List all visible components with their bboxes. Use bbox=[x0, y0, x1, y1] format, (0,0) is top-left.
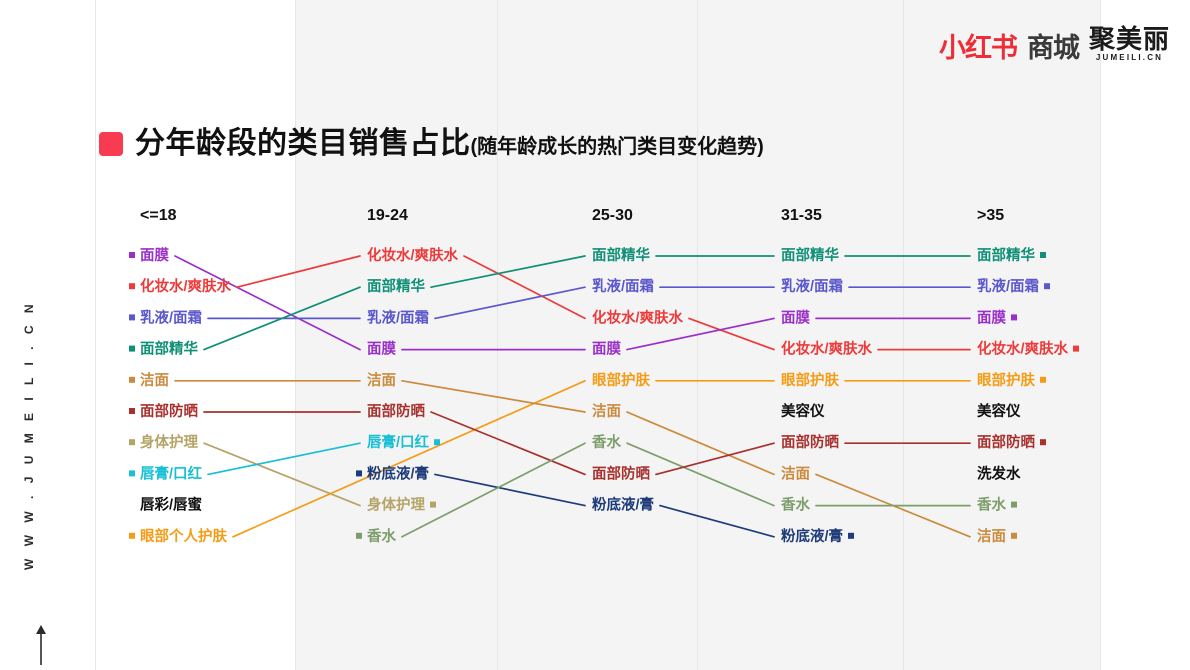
endpoint-marker-icon bbox=[1040, 377, 1046, 383]
category-label[interactable]: 面膜 bbox=[592, 340, 621, 358]
endpoint-marker-icon bbox=[1073, 346, 1079, 352]
link-line bbox=[656, 443, 774, 474]
age-category-slope-chart: 面膜化妆水/爽肤水乳液/面霜面部精华洁面面部防晒身体护理唇膏/口红唇彩/唇蜜眼部… bbox=[0, 0, 1190, 670]
category-label[interactable]: 面部精华 bbox=[367, 277, 425, 295]
endpoint-marker-icon bbox=[430, 502, 436, 508]
category-label[interactable]: 面膜 bbox=[977, 308, 1006, 326]
endpoint-marker-icon bbox=[1040, 439, 1046, 445]
endpoint-marker-icon bbox=[129, 439, 135, 445]
category-label[interactable]: 洁面 bbox=[781, 464, 810, 482]
endpoint-marker-icon bbox=[356, 533, 362, 539]
endpoint-marker-icon bbox=[434, 439, 440, 445]
link-line bbox=[402, 381, 585, 412]
endpoint-marker-icon bbox=[129, 533, 135, 539]
category-label[interactable]: 洁面 bbox=[592, 402, 621, 420]
link-line bbox=[660, 506, 774, 537]
endpoint-marker-icon bbox=[129, 252, 135, 258]
category-label[interactable]: 面部精华 bbox=[977, 246, 1035, 264]
category-label[interactable]: 香水 bbox=[977, 496, 1006, 514]
category-label[interactable]: 身体护理 bbox=[140, 433, 198, 451]
category-label[interactable]: 面部精华 bbox=[592, 246, 650, 264]
category-label[interactable]: 乳液/面霜 bbox=[977, 277, 1039, 295]
category-label[interactable]: 眼部护肤 bbox=[781, 371, 839, 389]
link-line bbox=[175, 256, 360, 350]
category-label[interactable]: 洁面 bbox=[977, 527, 1006, 545]
column-header-4: >35 bbox=[977, 207, 1004, 224]
endpoint-marker-icon bbox=[129, 470, 135, 476]
category-label[interactable]: 面膜 bbox=[140, 246, 169, 264]
category-label[interactable]: 乳液/面霜 bbox=[367, 308, 429, 326]
column-header-1: 19-24 bbox=[367, 207, 408, 224]
link-line bbox=[237, 256, 360, 287]
endpoint-marker-icon bbox=[356, 470, 362, 476]
category-label[interactable]: 洗发水 bbox=[977, 464, 1021, 482]
category-label[interactable]: 香水 bbox=[781, 496, 810, 514]
category-label[interactable]: 化妆水/爽肤水 bbox=[367, 246, 459, 264]
endpoint-marker-icon bbox=[1044, 283, 1050, 289]
column-header-3: 31-35 bbox=[781, 207, 822, 224]
link-line bbox=[204, 443, 360, 505]
link-line bbox=[431, 412, 585, 474]
category-label[interactable]: 乳液/面霜 bbox=[140, 308, 202, 326]
category-label[interactable]: 洁面 bbox=[367, 371, 396, 389]
category-nodes-layer: 面膜化妆水/爽肤水乳液/面霜面部精华洁面面部防晒身体护理唇膏/口红唇彩/唇蜜眼部… bbox=[129, 246, 1079, 545]
endpoint-marker-icon bbox=[129, 283, 135, 289]
category-label[interactable]: 香水 bbox=[367, 527, 396, 545]
category-label[interactable]: 美容仪 bbox=[977, 402, 1021, 420]
category-label[interactable]: 化妆水/爽肤水 bbox=[781, 340, 873, 358]
category-label[interactable]: 粉底液/膏 bbox=[367, 464, 429, 482]
endpoint-marker-icon bbox=[1011, 533, 1017, 539]
category-label[interactable]: 面部防晒 bbox=[781, 433, 839, 451]
category-label[interactable]: 身体护理 bbox=[367, 496, 425, 514]
category-label[interactable]: 面部精华 bbox=[781, 246, 839, 264]
link-line bbox=[435, 474, 585, 505]
endpoint-marker-icon bbox=[1011, 314, 1017, 320]
category-label[interactable]: 唇彩/唇蜜 bbox=[140, 496, 203, 514]
endpoint-marker-icon bbox=[129, 314, 135, 320]
link-lines-layer bbox=[175, 256, 970, 537]
link-line bbox=[627, 412, 774, 474]
category-label[interactable]: 面部防晒 bbox=[140, 402, 198, 420]
endpoint-marker-icon bbox=[1040, 252, 1046, 258]
category-label[interactable]: 美容仪 bbox=[781, 402, 825, 420]
category-label[interactable]: 面部防晒 bbox=[367, 402, 425, 420]
category-label[interactable]: 乳液/面霜 bbox=[592, 277, 654, 295]
category-label[interactable]: 香水 bbox=[592, 433, 621, 451]
category-label[interactable]: 面部精华 bbox=[140, 340, 198, 358]
link-line bbox=[208, 443, 360, 474]
endpoint-marker-icon bbox=[129, 346, 135, 352]
column-header-2: 25-30 bbox=[592, 207, 633, 224]
category-label[interactable]: 面部防晒 bbox=[977, 433, 1035, 451]
category-label[interactable]: 眼部护肤 bbox=[592, 371, 650, 389]
category-label[interactable]: 眼部护肤 bbox=[977, 371, 1035, 389]
endpoint-marker-icon bbox=[129, 408, 135, 414]
slide-canvas: W W W . J U M E I L I . C N 小红书 商城 聚美丽 J… bbox=[0, 0, 1190, 670]
category-label[interactable]: 化妆水/爽肤水 bbox=[140, 277, 232, 295]
category-label[interactable]: 面膜 bbox=[781, 308, 810, 326]
category-label[interactable]: 面部防晒 bbox=[592, 464, 650, 482]
category-label[interactable]: 粉底液/膏 bbox=[781, 527, 843, 545]
column-header-0: <=18 bbox=[140, 207, 177, 224]
endpoint-marker-icon bbox=[1011, 502, 1017, 508]
link-line bbox=[402, 443, 585, 537]
category-label[interactable]: 面膜 bbox=[367, 340, 396, 358]
link-line bbox=[435, 287, 585, 318]
category-label[interactable]: 乳液/面霜 bbox=[781, 277, 843, 295]
endpoint-marker-icon bbox=[129, 377, 135, 383]
category-label[interactable]: 粉底液/膏 bbox=[592, 496, 654, 514]
category-label[interactable]: 唇膏/口红 bbox=[367, 433, 430, 451]
category-label[interactable]: 化妆水/爽肤水 bbox=[977, 340, 1069, 358]
category-label[interactable]: 化妆水/爽肤水 bbox=[592, 308, 684, 326]
column-headers-layer: <=1819-2425-3031-35>35 bbox=[140, 207, 1004, 224]
endpoint-marker-icon bbox=[848, 533, 854, 539]
category-label[interactable]: 洁面 bbox=[140, 371, 169, 389]
category-label[interactable]: 眼部个人护肤 bbox=[140, 527, 227, 545]
category-label[interactable]: 唇膏/口红 bbox=[140, 464, 203, 482]
